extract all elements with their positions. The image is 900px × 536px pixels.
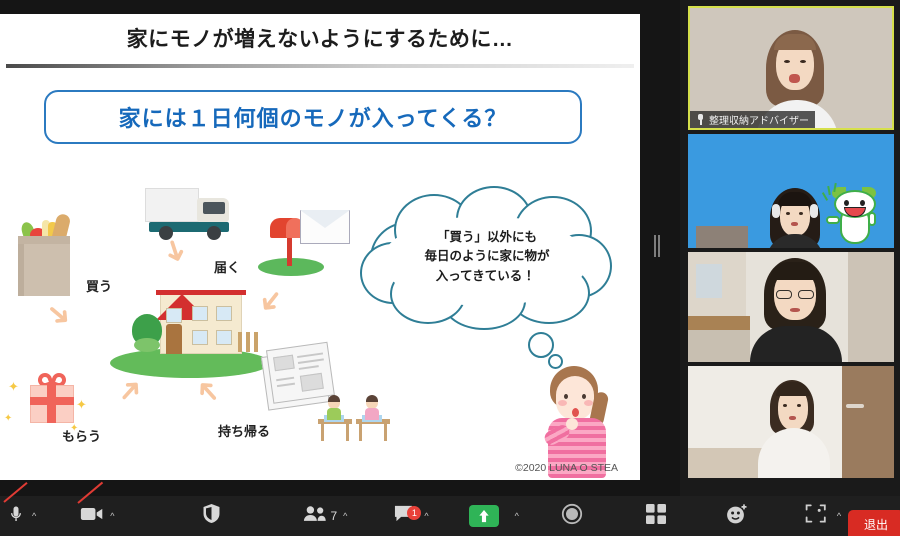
reactions-button[interactable] bbox=[721, 496, 753, 536]
video-tile-2[interactable] bbox=[688, 252, 894, 362]
participants-filmstrip[interactable]: 整理収納アドバイザー bbox=[680, 0, 900, 496]
share-screen-button[interactable] bbox=[465, 496, 503, 536]
gift-box-icon: ✦ ✦ ✦ ✦ bbox=[22, 369, 82, 425]
thought-bubble: 「買う」以外にも 毎日のように家に物が 入ってきている ！ bbox=[360, 186, 614, 346]
slide-subtitle: 家には１日何個のモノが入ってくる？ bbox=[119, 101, 508, 133]
video-tile-0[interactable]: 整理収納アドバイザー bbox=[688, 6, 894, 130]
share-screen-icon bbox=[469, 505, 499, 527]
panel-drag-handle[interactable] bbox=[653, 234, 660, 258]
chat-button[interactable]: 1 bbox=[389, 496, 418, 536]
share-options-chevron[interactable]: ^ bbox=[513, 512, 521, 521]
meeting-toolbar[interactable]: ^ ^ 7 ^ 1 ^ bbox=[0, 496, 900, 536]
label-bring-home: 持ち帰る bbox=[218, 421, 270, 440]
presentation-slide: 家にモノが増えないようにするために… 家には１日何個のモノが入ってくる？ 買う bbox=[0, 14, 640, 480]
participants-icon bbox=[303, 505, 327, 527]
video-feed bbox=[688, 252, 894, 362]
leave-meeting-button[interactable]: 退出 bbox=[848, 510, 900, 536]
record-icon bbox=[561, 503, 583, 530]
label-receive: もらう bbox=[62, 426, 101, 445]
chat-icon: 1 bbox=[393, 504, 414, 528]
video-feed bbox=[688, 134, 894, 248]
participants-chevron[interactable]: ^ bbox=[341, 512, 349, 521]
audio-button[interactable] bbox=[2, 496, 30, 536]
arrow-buy-to-house: ➜ bbox=[39, 295, 78, 334]
video-feed bbox=[688, 366, 894, 478]
house-icon bbox=[110, 272, 270, 378]
breakout-rooms-button[interactable] bbox=[641, 496, 671, 536]
focus-mode-chevron[interactable]: ^ bbox=[835, 512, 843, 521]
participant-name: 整理収納アドバイザー bbox=[709, 112, 809, 127]
video-feed bbox=[690, 8, 892, 128]
thought-bubble-text: 「買う」以外にも 毎日のように家に物が 入ってきている ！ bbox=[360, 228, 614, 286]
slide-title: 家にモノが増えないようにするために… bbox=[127, 23, 514, 53]
bubble-dot-large bbox=[528, 332, 554, 358]
reactions-icon bbox=[725, 503, 749, 530]
delivery-truck-icon bbox=[145, 186, 235, 242]
video-tile-1[interactable] bbox=[688, 134, 894, 248]
shield-icon bbox=[202, 503, 221, 529]
slide-subtitle-box: 家には１日何個のモノが入ってくる？ bbox=[44, 90, 582, 144]
focus-mode-icon bbox=[805, 503, 827, 529]
label-buy: 買う bbox=[86, 276, 112, 295]
school-children-icon bbox=[318, 389, 396, 441]
participant-name-bar: 整理収納アドバイザー bbox=[690, 111, 815, 128]
zoom-meeting-window: 家にモノが増えないようにするために… 家には１日何個のモノが入ってくる？ 買う bbox=[0, 0, 900, 536]
focus-mode-button[interactable] bbox=[801, 496, 831, 536]
breakout-rooms-icon bbox=[645, 503, 667, 530]
slide-title-bar: 家にモノが増えないようにするために… bbox=[0, 14, 640, 62]
pin-icon bbox=[696, 114, 705, 125]
video-button[interactable] bbox=[76, 496, 108, 536]
title-divider bbox=[6, 64, 634, 68]
participants-count: 7 bbox=[330, 509, 337, 523]
audio-options-chevron[interactable]: ^ bbox=[30, 512, 38, 521]
chat-unread-badge: 1 bbox=[407, 506, 421, 520]
slide-copyright: ©2020 LUNA O STEA bbox=[515, 462, 618, 474]
participants-button[interactable]: 7 bbox=[299, 496, 341, 536]
chat-chevron[interactable]: ^ bbox=[422, 512, 430, 521]
grocery-bag-icon bbox=[12, 214, 78, 296]
mascot-character bbox=[830, 190, 880, 248]
camera-off-icon bbox=[80, 505, 104, 528]
video-options-chevron[interactable]: ^ bbox=[108, 512, 116, 521]
video-tile-3[interactable] bbox=[688, 366, 894, 478]
shared-screen-area[interactable]: 家にモノが増えないようにするために… 家には１日何個のモノが入ってくる？ 買う bbox=[0, 0, 680, 496]
envelope-icon bbox=[300, 210, 350, 244]
security-button[interactable] bbox=[198, 496, 225, 536]
record-button[interactable] bbox=[557, 496, 587, 536]
microphone-muted-icon bbox=[6, 504, 26, 529]
